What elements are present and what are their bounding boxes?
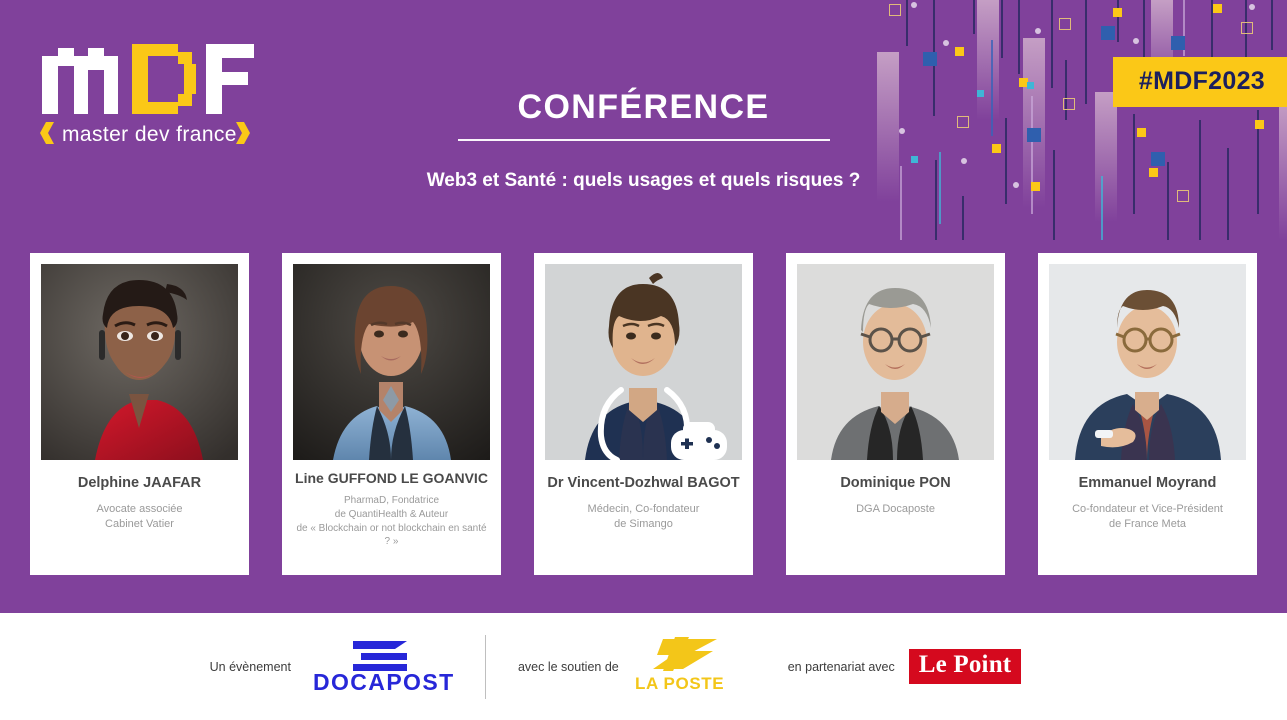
- partner-group: en partenariat avec Le Point: [788, 649, 1022, 684]
- speaker-card[interactable]: Dominique PON DGA Docaposte: [786, 253, 1005, 575]
- docaposte-logo: DOCAPOSTE: [311, 635, 453, 698]
- speaker-card-list: Delphine JAAFAR Avocate associéeCabinet …: [30, 253, 1257, 575]
- speaker-role: DGA Docaposte: [855, 502, 936, 518]
- laposte-wordmark: LA POSTE: [635, 674, 723, 693]
- speaker-role: Co-fondateur et Vice-Présidentde France …: [1071, 502, 1224, 533]
- speaker-name: Emmanuel Moyrand: [1077, 474, 1219, 493]
- supporter-label: avec le soutien de: [518, 660, 619, 674]
- speaker-role: Médecin, Co-fondateurde Simango: [587, 502, 701, 533]
- page-title: CONFÉRENCE: [0, 88, 1287, 127]
- speaker-card[interactable]: Dr Vincent-Dozhwal BAGOT Médecin, Co-fon…: [534, 253, 753, 575]
- speaker-name: Line GUFFOND LE GOANVIC: [293, 470, 490, 488]
- speaker-name: Dominique PON: [838, 474, 952, 493]
- speaker-role: PharmaD, Fondatricede QuantiHealth & Aut…: [293, 494, 490, 549]
- organizer-group: Un évènement DOCAPOSTE: [210, 635, 453, 698]
- speaker-photo: [545, 264, 742, 460]
- sponsor-footer: Un évènement DOCAPOSTE avec le soutien d…: [0, 613, 1287, 720]
- speaker-role: Avocate associéeCabinet Vatier: [95, 502, 183, 533]
- speaker-card[interactable]: Emmanuel Moyrand Co-fondateur et Vice-Pr…: [1038, 253, 1257, 575]
- supporter-group: avec le soutien de LA POSTE: [518, 635, 723, 698]
- footer-divider: [485, 635, 486, 699]
- speaker-photo: [797, 264, 994, 460]
- partner-label: en partenariat avec: [788, 660, 895, 674]
- footer-spacer: [755, 635, 756, 699]
- speaker-card[interactable]: Line GUFFOND LE GOANVIC PharmaD, Fondatr…: [282, 253, 501, 575]
- organizer-label: Un évènement: [210, 660, 291, 674]
- page-subtitle: Web3 et Santé : quels usages et quels ri…: [0, 170, 1287, 192]
- speaker-name: Dr Vincent-Dozhwal BAGOT: [545, 474, 741, 493]
- speaker-photo: [1049, 264, 1246, 460]
- lepoint-logo: Le Point: [909, 649, 1022, 684]
- slide-canvas: master dev france #MDF2023 CONFÉRENCE We…: [0, 0, 1287, 720]
- docaposte-wordmark: DOCAPOSTE: [313, 669, 453, 693]
- speaker-card[interactable]: Delphine JAAFAR Avocate associéeCabinet …: [30, 253, 249, 575]
- title-divider: [458, 139, 830, 141]
- laposte-logo: LA POSTE: [633, 635, 723, 698]
- speaker-photo: [41, 264, 238, 460]
- speaker-name: Delphine JAAFAR: [76, 474, 203, 493]
- speaker-photo: [293, 264, 490, 460]
